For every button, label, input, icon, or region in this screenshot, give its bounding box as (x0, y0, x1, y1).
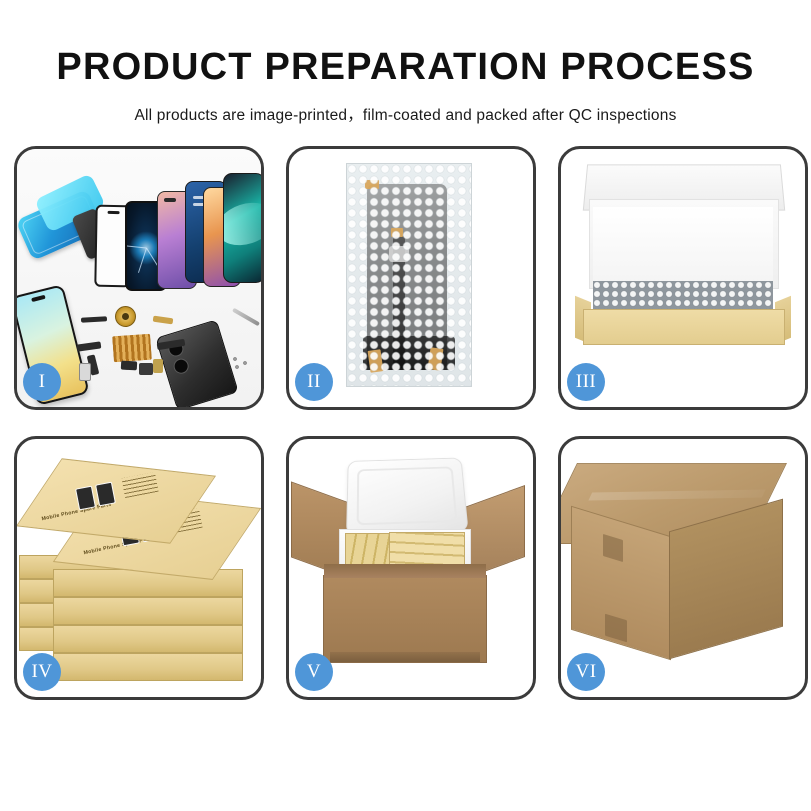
step-badge-6: VI (567, 653, 605, 691)
small-component-part (139, 363, 153, 375)
process-step-grid: I II (14, 146, 808, 700)
step-panel-3: III (558, 146, 808, 410)
sim-tray-part (79, 363, 91, 381)
page-subtitle: All products are image-printed，film-coat… (0, 86, 811, 125)
step-panel-4: Mobile Phone Spare Parts Mobile Phone Sp… (14, 436, 264, 700)
step-panel-2: II (286, 146, 536, 410)
retail-box (53, 597, 243, 625)
step-badge-4: IV (23, 653, 61, 691)
swirl-graphic (223, 196, 261, 253)
step-badge-1: I (23, 363, 61, 401)
small-component-part (121, 361, 137, 371)
step-panel-1: I (14, 146, 264, 410)
camera-lens-icon (172, 357, 191, 376)
carton-body (323, 575, 487, 663)
bubble-wrapped-contents (593, 281, 773, 311)
bubble-texture (347, 164, 471, 386)
screws-icon (231, 355, 253, 371)
teal-gradient-phone-icon (223, 173, 261, 283)
retail-box (53, 625, 243, 653)
step-panel-6: VI (558, 436, 808, 700)
step-badge-5: V (295, 653, 333, 691)
header: PRODUCT PREPARATION PROCESS All products… (0, 0, 811, 125)
step-badge-3: III (567, 363, 605, 401)
step-badge-2: II (295, 363, 333, 401)
page-title: PRODUCT PREPARATION PROCESS (0, 0, 811, 86)
step-panel-5: V (286, 436, 536, 700)
battery-connector-part (153, 359, 163, 373)
wireless-charging-coil-icon (115, 306, 136, 327)
inner-box-front-wall (583, 309, 785, 345)
retail-box (53, 653, 243, 681)
foam-cooler-lid (346, 458, 469, 536)
product-preparation-infographic: PRODUCT PREPARATION PROCESS All products… (0, 0, 811, 811)
bubble-wrap-bag (346, 163, 472, 387)
white-foam-liner (593, 207, 773, 285)
connector-chip-icon (112, 334, 152, 363)
phone-notch-icon (164, 198, 176, 202)
